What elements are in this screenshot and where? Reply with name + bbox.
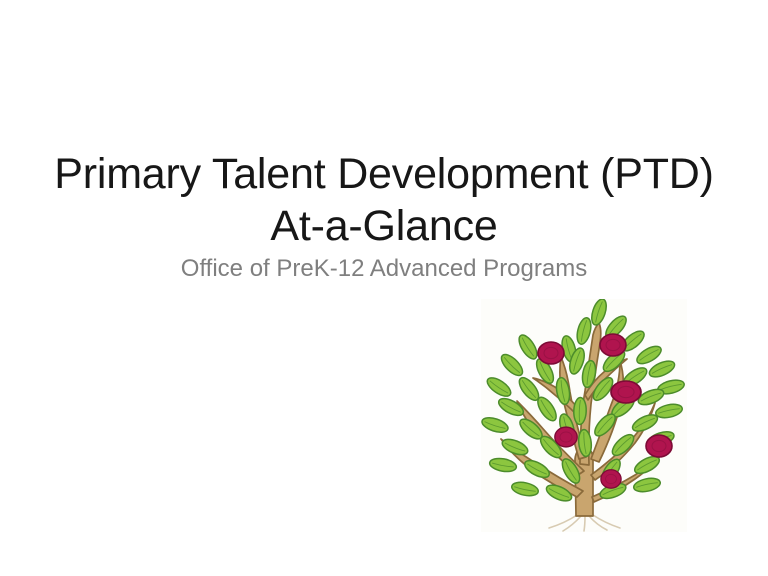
tree-icon	[481, 299, 687, 532]
tree-illustration	[481, 299, 687, 532]
title-line-1: Primary Talent Development (PTD)	[40, 148, 728, 200]
page-title: Primary Talent Development (PTD) At-a-Gl…	[40, 148, 728, 252]
subtitle-text: Office of PreK-12 Advanced Programs	[40, 254, 728, 284]
page-subtitle: Office of PreK-12 Advanced Programs	[40, 254, 728, 284]
slide-canvas: Primary Talent Development (PTD) At-a-Gl…	[0, 0, 768, 576]
title-line-2: At-a-Glance	[40, 200, 728, 252]
